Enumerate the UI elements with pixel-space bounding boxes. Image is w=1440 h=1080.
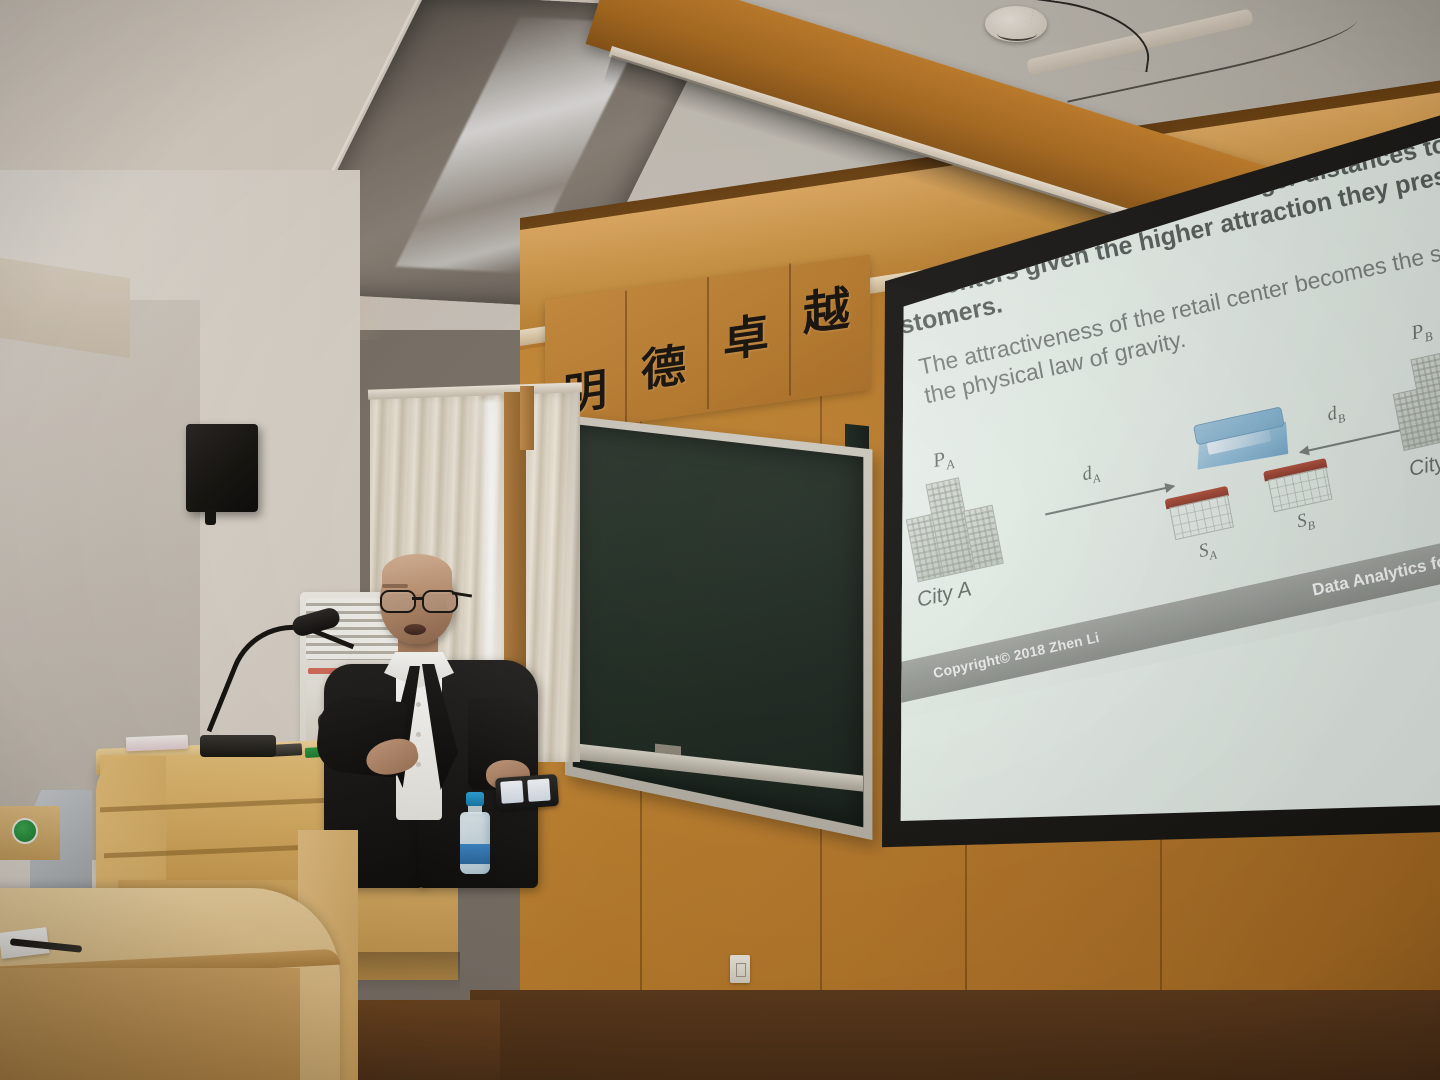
city-b-label: City B — [1407, 446, 1440, 482]
handheld-device — [495, 774, 559, 810]
motto-char-4: 越 — [803, 269, 850, 345]
s-a-label: SA — [1197, 538, 1218, 566]
store-b-icon — [1263, 458, 1333, 513]
eyeglasses-icon — [378, 590, 460, 610]
d-b-label: dB — [1325, 401, 1346, 429]
wall-speaker — [186, 424, 258, 512]
p-b-label: PB — [1409, 318, 1434, 348]
presenter-scalp — [382, 554, 452, 594]
water-bottle — [458, 792, 492, 874]
podium-papers — [126, 735, 189, 752]
foreground-desk-front — [0, 968, 300, 1080]
presenter-brow — [382, 584, 408, 588]
wall-speaker-mount — [205, 509, 216, 525]
presenter-mouth — [404, 624, 426, 635]
p-a-label: PA — [931, 446, 956, 476]
lecture-hall-photo: 明 德 卓 越 Reilly's Law of Retail Gravitati… — [0, 0, 1440, 1080]
city-b-buildings-icon — [1385, 337, 1440, 451]
window-frame-upper — [520, 386, 534, 450]
store-a-icon — [1165, 486, 1235, 541]
bottle-cap — [466, 792, 484, 806]
projection-screen: Reilly's Law of Retail Gravitation Custo… — [852, 108, 1440, 878]
presentation-slide: Reilly's Law of Retail Gravitation Custo… — [852, 108, 1440, 722]
motto-char-2: 德 — [641, 328, 686, 399]
motto-char-3: 卓 — [723, 299, 769, 371]
d-a-label: dA — [1080, 461, 1101, 489]
city-a-buildings-icon — [900, 468, 1008, 582]
s-b-label: SB — [1295, 508, 1316, 536]
distance-a-arrow — [1045, 485, 1174, 515]
floor — [470, 990, 1440, 1080]
side-desk-sticker — [12, 818, 38, 844]
city-a-label: City A — [915, 577, 973, 612]
retail-center-icon — [1189, 406, 1293, 478]
wall-outlet — [730, 955, 750, 983]
